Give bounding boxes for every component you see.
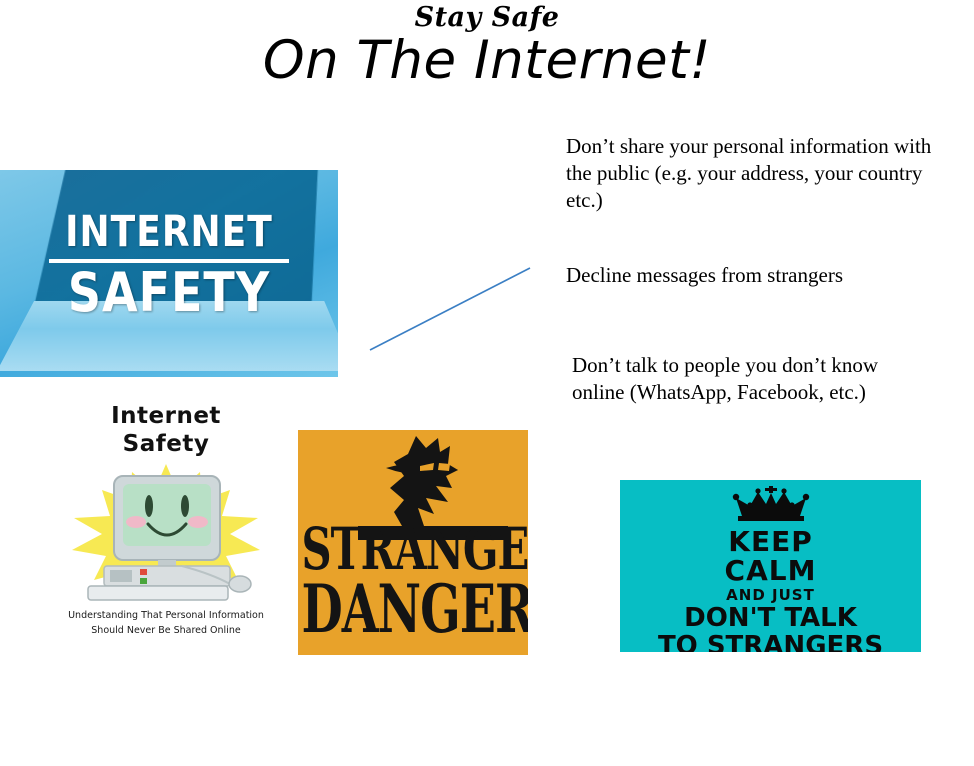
clipart-heading-line1: Internet (62, 402, 270, 430)
clipart-artwork (62, 462, 270, 602)
stranger-eye-right (438, 463, 450, 471)
banner-text-group: INTERNET SAFETY (0, 216, 338, 314)
clipart-caption-line1: Understanding That Personal Information (62, 608, 270, 623)
eye-right (181, 495, 189, 517)
connector-line-top (370, 268, 530, 350)
connector-lines-group (330, 120, 590, 390)
tower-slot (110, 570, 132, 582)
cheek-left (126, 516, 146, 528)
clipart-caption-line2: Should Never Be Shared Online (62, 623, 270, 638)
keyboard (88, 586, 228, 600)
cheek-right (188, 516, 208, 528)
crown-icon-wrapper (620, 486, 921, 529)
tower-led-green (140, 578, 147, 584)
clipart-heading-line2: Safety (62, 430, 270, 458)
keep-calm-line-calm: CALM (620, 556, 921, 586)
clipart-heading: Internet Safety (62, 402, 270, 458)
tip-text-personal-information: Don’t share your personal information wi… (566, 133, 936, 214)
computer-character-icon (62, 462, 270, 602)
stranger-danger-text-group: STRANGER DANGER (298, 528, 528, 636)
stranger-danger-line-danger: DANGER (301, 573, 524, 646)
clipart-caption: Understanding That Personal Information … (62, 608, 270, 638)
page-title: On The Internet! (0, 33, 974, 89)
banner-line-internet: INTERNET (0, 213, 338, 253)
monitor-screen (123, 484, 211, 546)
mouse-icon (229, 576, 251, 592)
smiley-computer-clipart: Internet Safety (62, 402, 270, 647)
keep-calm-line-andjust: AND JUST (620, 586, 921, 604)
keep-calm-line-dont: DON'T TALK (620, 604, 921, 632)
internet-safety-banner-image: INTERNET SAFETY (0, 170, 338, 377)
keep-calm-line-keep: KEEP (620, 528, 921, 556)
stranger-danger-poster: STRANGER DANGER (298, 430, 528, 655)
eye-left (145, 495, 153, 517)
subtitle-stay-safe: Stay Safe (0, 4, 974, 31)
crown-icon (732, 486, 810, 524)
keep-calm-line-to: TO STRANGERS (620, 632, 921, 652)
page-title-block: Stay Safe On The Internet! (0, 0, 974, 89)
tip-text-decline-messages: Decline messages from strangers (566, 262, 936, 289)
banner-line-safety: SAFETY (0, 266, 338, 318)
keep-calm-text-group: KEEP CALM AND JUST DON'T TALK TO STRANGE… (620, 528, 921, 652)
keep-calm-poster: KEEP CALM AND JUST DON'T TALK TO STRANGE… (620, 480, 921, 652)
tower-led-red (140, 569, 147, 575)
tip-text-dont-talk-to-strangers: Don’t talk to people you don’t know onli… (572, 352, 902, 406)
crown-body (736, 492, 806, 516)
